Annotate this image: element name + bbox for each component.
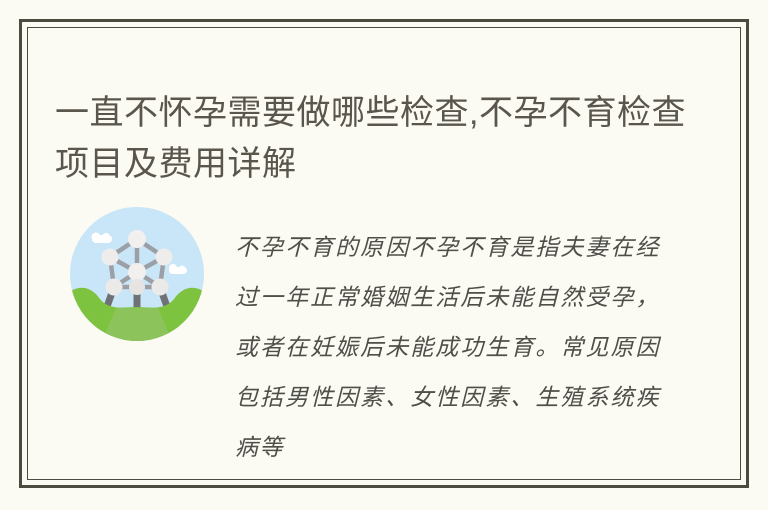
card-content: 一直不怀孕需要做哪些检查,不孕不育检查项目及费用详解	[27, 27, 741, 480]
article-body-text: 不孕不育的原因不孕不育是指夫妻在经过一年正常婚姻生活后未能自然受孕，或者在妊娠后…	[235, 223, 660, 473]
page-title: 一直不怀孕需要做哪些检查,不孕不育检查项目及费用详解	[55, 88, 695, 190]
atomium-monument-icon	[70, 207, 204, 341]
article-body: 不孕不育的原因不孕不育是指夫妻在经过一年正常婚姻生活后未能自然受孕，或者在妊娠后…	[27, 192, 741, 472]
